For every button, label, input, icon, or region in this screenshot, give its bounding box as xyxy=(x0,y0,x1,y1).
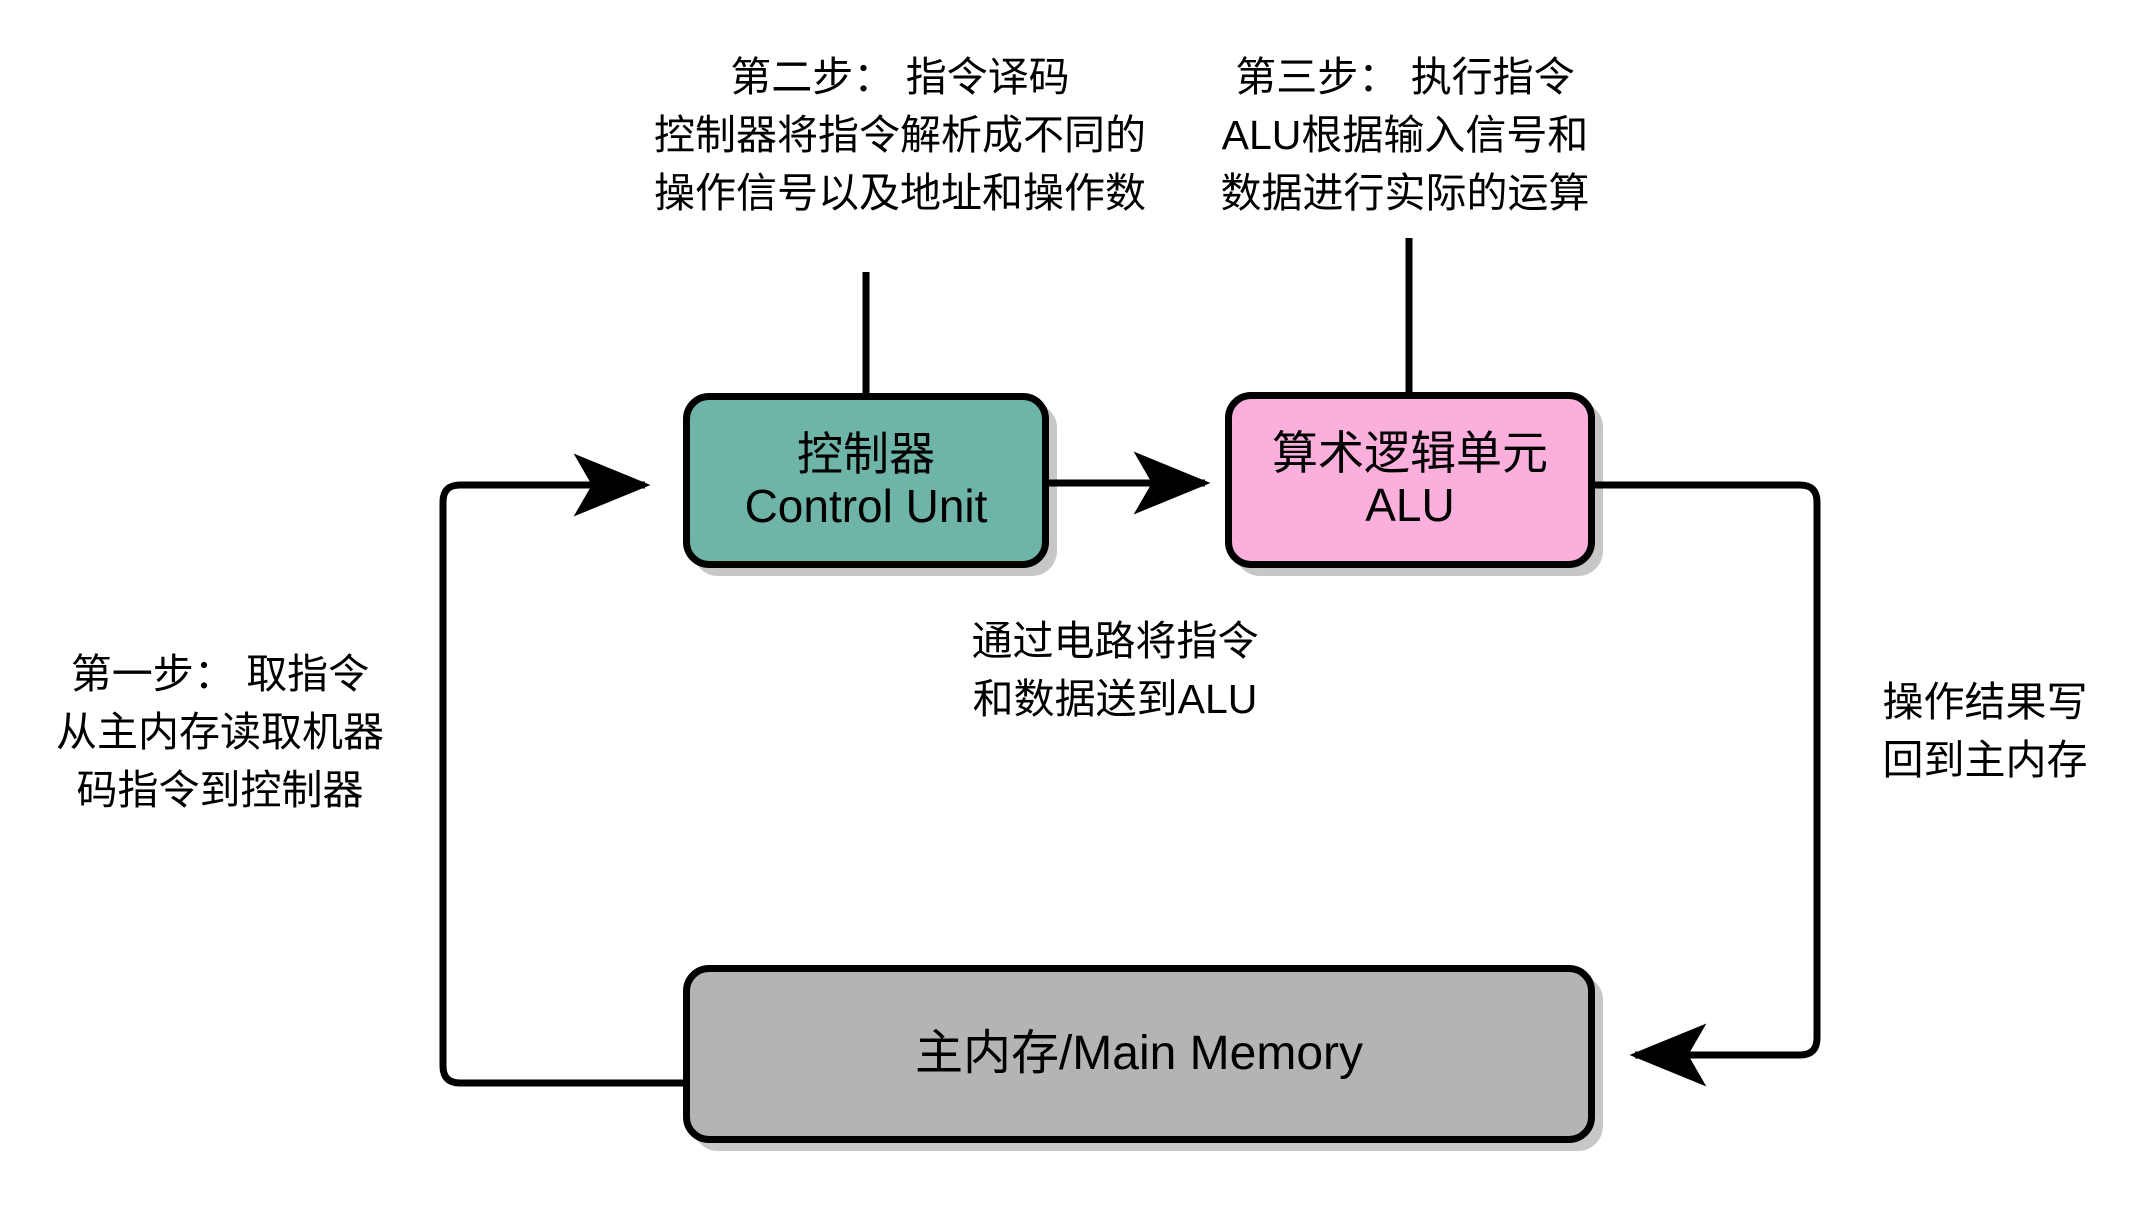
caption-step-2-line-3: 操作信号以及地址和操作数 xyxy=(600,164,1200,222)
caption-step-2: 第二步： 指令译码 控制器将指令解析成不同的 操作信号以及地址和操作数 xyxy=(600,48,1200,223)
caption-step-2-line-1: 第二步： 指令译码 xyxy=(600,48,1200,106)
alu-label-cn: 算术逻辑单元 xyxy=(1272,428,1548,480)
caption-step-3: 第三步： 执行指令 ALU根据输入信号和 数据进行实际的运算 xyxy=(1195,48,1615,223)
caption-transfer-line-2: 和数据送到ALU xyxy=(930,670,1300,728)
alu-label-en: ALU xyxy=(1365,480,1454,532)
caption-step-3-line-2: ALU根据输入信号和 xyxy=(1195,106,1615,164)
node-control-unit[interactable]: 控制器 Control Unit xyxy=(683,393,1049,568)
main-memory-label: 主内存/Main Memory xyxy=(915,1027,1363,1081)
caption-step-1-line-2: 从主内存读取机器 xyxy=(30,703,410,761)
caption-step-1-line-3: 码指令到控制器 xyxy=(30,761,410,819)
caption-step-1: 第一步： 取指令 从主内存读取机器 码指令到控制器 xyxy=(30,645,410,820)
node-main-memory[interactable]: 主内存/Main Memory xyxy=(683,965,1595,1143)
diagram-canvas: 控制器 Control Unit 算术逻辑单元 ALU 主内存/Main Mem… xyxy=(0,0,2143,1207)
caption-step-3-line-3: 数据进行实际的运算 xyxy=(1195,164,1615,222)
caption-writeback: 操作结果写 回到主内存 xyxy=(1840,673,2130,789)
caption-step-3-line-1: 第三步： 执行指令 xyxy=(1195,48,1615,106)
caption-step-1-line-1: 第一步： 取指令 xyxy=(30,645,410,703)
control-unit-label-cn: 控制器 xyxy=(797,429,935,481)
caption-step-2-line-2: 控制器将指令解析成不同的 xyxy=(600,106,1200,164)
caption-writeback-line-2: 回到主内存 xyxy=(1840,731,2130,789)
node-alu[interactable]: 算术逻辑单元 ALU xyxy=(1225,392,1595,568)
connector-alu-to-memory xyxy=(1595,485,1817,1055)
caption-transfer-to-alu: 通过电路将指令 和数据送到ALU xyxy=(930,612,1300,728)
caption-writeback-line-1: 操作结果写 xyxy=(1840,673,2130,731)
connector-memory-to-control xyxy=(443,485,683,1083)
caption-transfer-line-1: 通过电路将指令 xyxy=(930,612,1300,670)
control-unit-label-en: Control Unit xyxy=(745,481,988,533)
